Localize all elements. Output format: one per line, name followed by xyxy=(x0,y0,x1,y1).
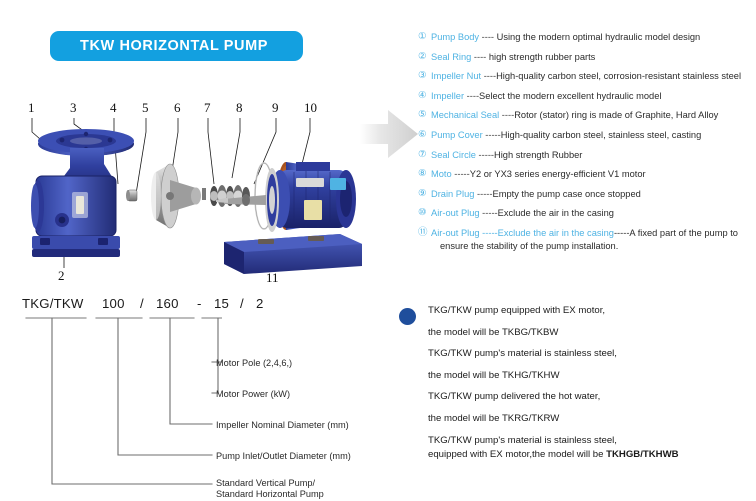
legend-item: ⑪ Air-out Plug -----Exclude the air in t… xyxy=(418,227,754,239)
legend-text: Drain Plug -----Empty the pump case once… xyxy=(431,188,641,200)
legend-number: ① xyxy=(418,31,431,43)
legend-number: ③ xyxy=(418,70,431,82)
model-label-inlet: Pump Inlet/Outlet Diameter (mm) xyxy=(216,451,351,463)
legend-item: ② Seal Ring ---- high strength rubber pa… xyxy=(418,51,754,63)
bullet-dot-icon xyxy=(399,308,416,325)
impeller-nut-part xyxy=(126,190,137,201)
legend-item: ⑩ Air-out Plug -----Exclude the air in t… xyxy=(418,207,754,219)
code-inlet: 100 xyxy=(102,296,125,311)
legend-text: Seal Circle -----High strength Rubber xyxy=(431,149,582,161)
base-plate-part xyxy=(224,234,362,274)
legend-number: ⑩ xyxy=(418,207,431,219)
code-dash: - xyxy=(197,296,202,311)
note-line: the model will be TKHG/TKHW xyxy=(428,370,749,382)
callout-10: 10 xyxy=(304,100,317,115)
callout-7: 7 xyxy=(204,100,211,115)
legend-number: ② xyxy=(418,51,431,63)
legend-item: ④ Impeller ----Select the modern excelle… xyxy=(418,90,754,102)
model-label-vertical: Standard Vertical Pump/ xyxy=(216,478,315,490)
code-series: TKG/TKW xyxy=(22,296,83,311)
callout-5: 5 xyxy=(142,100,149,115)
code-slash-1: / xyxy=(140,296,144,311)
legend-text: Air-out Plug -----Exclude the air in the… xyxy=(431,207,614,219)
legend-item: ⑦ Seal Circle -----High strength Rubber xyxy=(418,149,754,161)
code-impeller: 160 xyxy=(156,296,179,311)
legend-text: Moto -----Y2 or YX3 series energy-effici… xyxy=(431,168,646,180)
legend-number: ④ xyxy=(418,90,431,102)
model-code-breakdown: TKG/TKW 100 / 160 - 15 / 2 xyxy=(22,296,392,496)
legend-item: ① Pump Body ---- Using the modern optima… xyxy=(418,31,754,43)
page-title-banner: TKW HORIZONTAL PUMP xyxy=(50,31,303,61)
callout-9: 9 xyxy=(272,100,279,115)
code-power: 15 xyxy=(214,296,229,311)
model-leader-lines xyxy=(22,314,222,499)
note-line: the model will be TKBG/TKBW xyxy=(428,327,749,339)
legend-number: ⑤ xyxy=(418,109,431,121)
legend-text: Air-out Plug -----Exclude the air in the… xyxy=(431,227,738,239)
exploded-pump-diagram: 1 3 4 5 6 7 8 9 10 2 11 xyxy=(18,92,368,282)
note-line: TKG/TKW pump delivered the hot water, xyxy=(428,391,749,403)
legend-continuation: ensure the stability of the pump install… xyxy=(440,240,754,252)
model-label-power: Motor Power (kW) xyxy=(216,389,290,401)
note-line: the model will be TKRG/TKRW xyxy=(428,413,749,425)
callout-1: 1 xyxy=(28,100,35,115)
code-pole: 2 xyxy=(256,296,264,311)
model-label-pole: Motor Pole (2,4,6,) xyxy=(216,358,292,370)
legend-text: Pump Body ---- Using the modern optimal … xyxy=(431,31,700,43)
legend-text: Impeller ----Select the modern excellent… xyxy=(431,90,661,102)
model-suffix-notes: TKG/TKW pump equipped with EX motor, the… xyxy=(399,305,749,470)
legend-item: ⑥ Pump Cover -----High-quality carbon st… xyxy=(418,129,754,141)
legend-number: ⑨ xyxy=(418,188,431,200)
model-label-horizontal: Standard Horizontal Pump xyxy=(216,489,324,501)
legend-number: ⑥ xyxy=(418,129,431,141)
legend-text: Mechanical Seal ----Rotor (stator) ring … xyxy=(431,109,718,121)
page-root: TKW HORIZONTAL PUMP xyxy=(0,0,756,500)
callout-3: 3 xyxy=(70,100,77,115)
legend-number: ⑧ xyxy=(418,168,431,180)
legend-text: Seal Ring ---- high strength rubber part… xyxy=(431,51,595,63)
legend-item: ⑨ Drain Plug -----Empty the pump case on… xyxy=(418,188,754,200)
legend-item: ⑧ Moto -----Y2 or YX3 series energy-effi… xyxy=(418,168,754,180)
pump-body-part xyxy=(31,129,134,257)
legend-text: Pump Cover -----High-quality carbon stee… xyxy=(431,129,701,141)
flow-arrow-icon xyxy=(358,104,420,164)
callout-2: 2 xyxy=(58,268,65,282)
component-legend: ① Pump Body ---- Using the modern optima… xyxy=(418,31,754,253)
callout-6: 6 xyxy=(174,100,181,115)
legend-number: ⑪ xyxy=(418,227,431,239)
note-line: TKG/TKW pump's material is stainless ste… xyxy=(428,348,749,360)
callout-8: 8 xyxy=(236,100,243,115)
legend-item: ⑤ Mechanical Seal ----Rotor (stator) rin… xyxy=(418,109,754,121)
code-slash-2: / xyxy=(240,296,244,311)
note-lines: TKG/TKW pump equipped with EX motor, the… xyxy=(428,305,749,461)
note-line-final: equipped with EX motor,the model will be… xyxy=(428,449,749,461)
model-label-impeller: Impeller Nominal Diameter (mm) xyxy=(216,420,349,432)
note-line: TKG/TKW pump equipped with EX motor, xyxy=(428,305,749,317)
legend-number: ⑦ xyxy=(418,149,431,161)
note-line: TKG/TKW pump's material is stainless ste… xyxy=(428,435,749,447)
legend-item: ③ Impeller Nut ----High-quality carbon s… xyxy=(418,70,754,82)
page-title: TKW HORIZONTAL PUMP xyxy=(50,38,268,54)
legend-text: Impeller Nut ----High-quality carbon ste… xyxy=(431,70,741,82)
callout-4: 4 xyxy=(110,100,117,115)
